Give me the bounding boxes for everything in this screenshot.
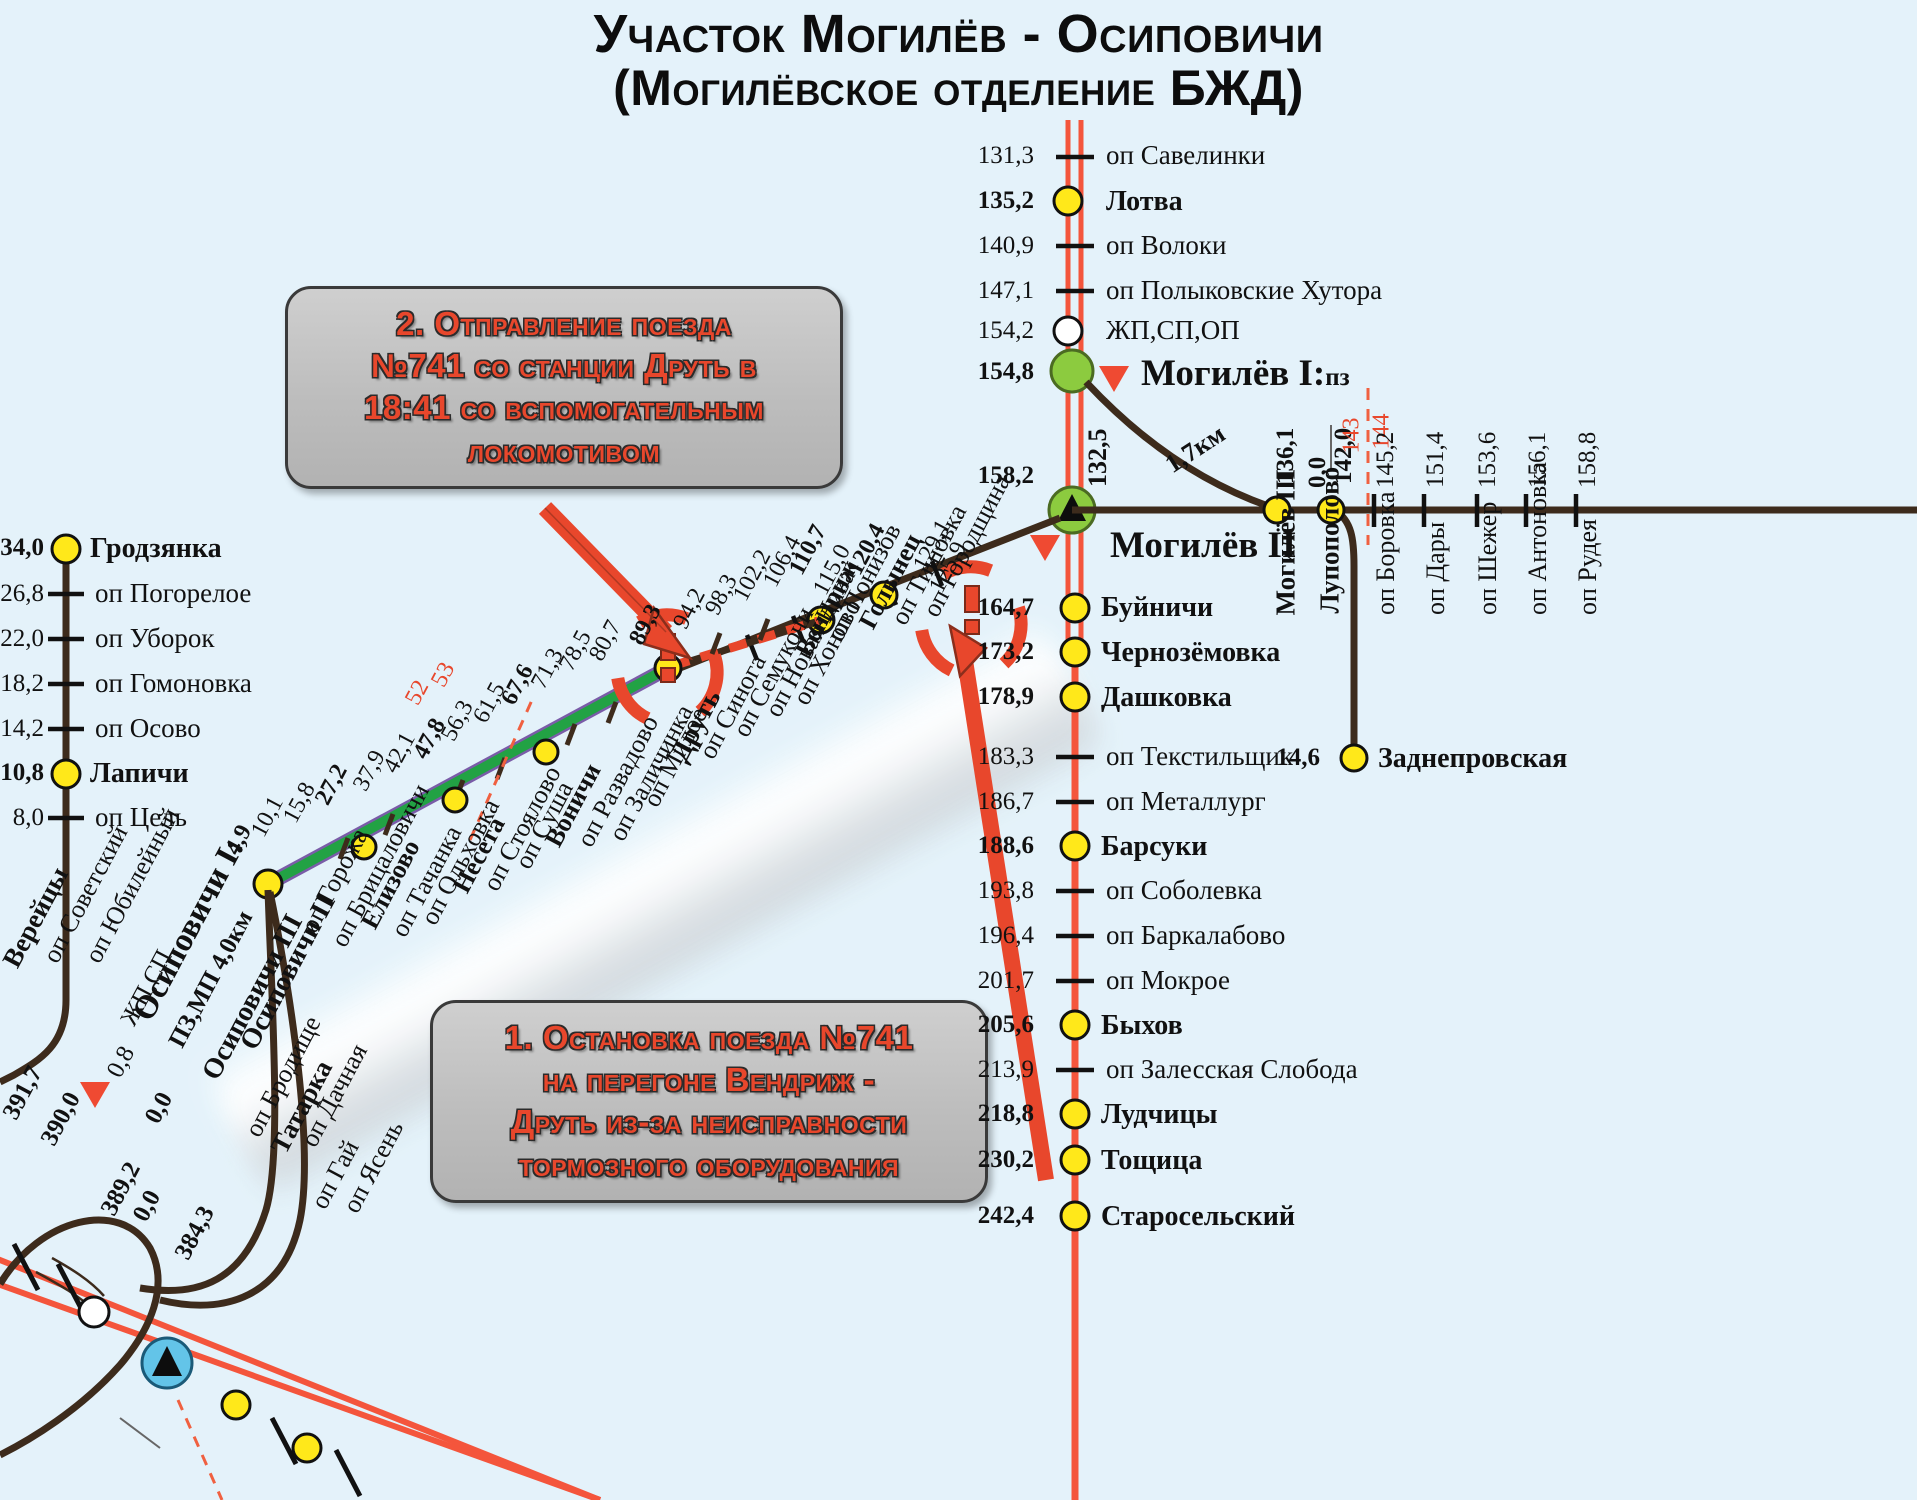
km-chernozemovka: 173,2 — [946, 638, 1034, 666]
km-dashkovka: 178,9 — [946, 683, 1034, 711]
station-dot-toshchitsa[interactable] — [1061, 1146, 1089, 1174]
km-mogilev-1: 154,8 — [946, 358, 1034, 386]
km-dary: 151,4 — [1422, 432, 1450, 488]
callout-2-line-2: №741 со станции Друть в — [308, 345, 820, 387]
label-zhp-sp-op: ЖП,СП,ОП — [1106, 315, 1240, 346]
km-tsel: 8,0 — [0, 804, 44, 832]
marker-triangle-mogilev-1 — [1099, 366, 1129, 392]
station-lupolovo[interactable]: Лупополово — [1315, 467, 1346, 614]
station-bykhov[interactable]: Быхов — [1101, 1010, 1183, 1042]
station-barkalabovo[interactable]: оп Баркалабово — [1106, 920, 1285, 951]
station-ludchitsy[interactable]: Лудчицы — [1101, 1099, 1217, 1131]
km-buinichi: 164,7 — [946, 594, 1034, 622]
km-zalesskaya: 213,9 — [946, 1056, 1034, 1084]
km-bykhov: 205,6 — [946, 1011, 1034, 1039]
station-mogilev-1-suffix: пз — [1325, 364, 1349, 391]
station-dot-neseta[interactable] — [443, 788, 467, 812]
station-dot-zhp-sp-op[interactable] — [1054, 317, 1082, 345]
callout-1-line-2: на перегоне Вендриж - — [453, 1059, 965, 1101]
station-shezher[interactable]: оп Шежер — [1473, 502, 1503, 615]
km-voloki: 140,9 — [946, 232, 1034, 260]
station-dot-lapichi[interactable] — [52, 760, 80, 788]
km-mogilev-2-east: 132,5 — [1083, 429, 1113, 488]
km-staroselskiy: 242,4 — [946, 1202, 1034, 1230]
km-ludchitsy: 218,8 — [946, 1100, 1034, 1128]
km-lotva: 135,2 — [946, 187, 1034, 215]
station-dot-lotva[interactable] — [1054, 187, 1082, 215]
callout-2-line-1: 2. Отправление поезда — [308, 303, 820, 345]
station-rudeya[interactable]: оп Рудея — [1573, 519, 1603, 615]
km-grodzyanka: 34,0 — [0, 534, 44, 562]
km-uborok: 22,0 — [0, 625, 44, 653]
marker-triangle-mogilev-2 — [1030, 535, 1060, 561]
station-voloki[interactable]: оп Волоки — [1106, 230, 1226, 261]
station-metallurg[interactable]: оп Металлург — [1106, 786, 1266, 817]
callout-1-line-3: Друть из-за неисправности — [453, 1101, 965, 1143]
callout-2-line-3: 18:41 со вспомогательным — [308, 387, 820, 429]
km-savelinki: 131,3 — [946, 142, 1034, 170]
callout-departure-741[interactable]: 2. Отправление поезда №741 со станции Др… — [285, 286, 843, 489]
km-tekstilshchik: 183,3 — [946, 743, 1034, 771]
station-dashkovka[interactable]: Дашковка — [1101, 682, 1232, 714]
station-toshchitsa[interactable]: Тощица — [1101, 1145, 1202, 1177]
km-gomonovka: 18,2 — [0, 670, 44, 698]
km-barkalabovo: 196,4 — [946, 922, 1034, 950]
station-pogoreloe[interactable]: оп Погорелое — [95, 578, 251, 609]
station-lapichi[interactable]: Лапичи — [90, 758, 189, 790]
station-chernozemovka[interactable]: Чернозёмовка — [1101, 637, 1280, 669]
station-mogilev-1[interactable]: Могилёв I:пз — [1141, 352, 1350, 395]
station-antonovka[interactable]: оп Антоновка — [1523, 462, 1553, 615]
station-dot-bykhov[interactable] — [1061, 1011, 1089, 1039]
km-mokroe: 201,7 — [946, 967, 1034, 995]
km-metallurg: 186,7 — [946, 788, 1034, 816]
station-savelinki[interactable]: оп Савелинки — [1106, 140, 1265, 171]
station-dot-tatarka[interactable] — [222, 1391, 250, 1419]
station-dot-staroselskiy[interactable] — [1061, 1202, 1089, 1230]
station-uborok[interactable]: оп Уборок — [95, 623, 214, 654]
station-polykovskie-khutora[interactable]: оп Полыковские Хутора — [1106, 275, 1382, 306]
boundary-label-143: 143 — [1339, 418, 1366, 454]
station-mogilev-2[interactable]: Могилёв II — [1110, 524, 1296, 567]
km-zadneprovskaya: 14,6 — [1232, 744, 1320, 772]
station-buinichi[interactable]: Буйничи — [1101, 592, 1213, 624]
km-osovo: 14,2 — [0, 715, 44, 743]
station-mogilev-3[interactable]: Могилёв III — [1271, 469, 1302, 615]
station-dot-ludchitsy[interactable] — [1061, 1100, 1089, 1128]
station-dot-grodzyanka[interactable] — [52, 535, 80, 563]
station-mogilev-1-name: Могилёв I: — [1141, 353, 1325, 394]
km-toshchitsa: 230,2 — [946, 1146, 1034, 1174]
station-dot-zadneprovskaya[interactable] — [1341, 745, 1367, 771]
station-sobolevka[interactable]: оп Соболевка — [1106, 875, 1262, 906]
km-zhp-sp-op: 154,2 — [946, 317, 1034, 345]
km-pogoreloe: 26,8 — [0, 580, 44, 608]
station-gomonovka[interactable]: оп Гомоновка — [95, 668, 252, 699]
station-zalesskaya-sloboda[interactable]: оп Залесская Слобода — [1106, 1054, 1358, 1085]
station-staroselskiy[interactable]: Старосельский — [1101, 1201, 1295, 1233]
station-borovka[interactable]: оп Боровка — [1371, 492, 1401, 615]
boundary-line-osipovichi — [178, 1400, 222, 1500]
km-lapichi: 10,8 — [0, 759, 44, 787]
station-zadneprovskaya[interactable]: Заднепровская — [1378, 743, 1567, 775]
callout-1-line-4: тормозного оборудования — [453, 1144, 965, 1186]
station-grodzyanka[interactable]: Гродзянка — [90, 533, 222, 565]
callout-1-line-1: 1. Остановка поезда №741 — [453, 1017, 965, 1059]
km-sobolevka: 193,8 — [946, 877, 1034, 905]
station-lotva[interactable]: Лотва — [1106, 186, 1183, 218]
station-dary[interactable]: оп Дары — [1421, 522, 1451, 615]
station-dot-390[interactable] — [79, 1297, 109, 1327]
km-barsuki: 188,6 — [946, 832, 1034, 860]
station-dot-barsuki[interactable] — [1061, 832, 1089, 860]
callout-stop-741[interactable]: 1. Остановка поезда №741 на перегоне Вен… — [430, 1000, 988, 1203]
km-borovka: 145,2 — [1372, 432, 1400, 488]
km-shezher: 153,6 — [1474, 432, 1502, 488]
station-dot-vonichi[interactable] — [534, 740, 558, 764]
station-osovo[interactable]: оп Осово — [95, 713, 201, 744]
station-mokroe[interactable]: оп Мокрое — [1106, 965, 1230, 996]
station-barsuki[interactable]: Барсуки — [1101, 831, 1207, 863]
km-rudeya: 158,8 — [1574, 432, 1602, 488]
km-polykovskie: 147,1 — [946, 277, 1034, 305]
station-dot-buinichi[interactable] — [1061, 594, 1089, 622]
station-dot-dachnaya[interactable] — [293, 1434, 321, 1462]
callout-2-line-4: локомотивом — [308, 430, 820, 472]
station-dot-dashkovka[interactable] — [1061, 683, 1089, 711]
